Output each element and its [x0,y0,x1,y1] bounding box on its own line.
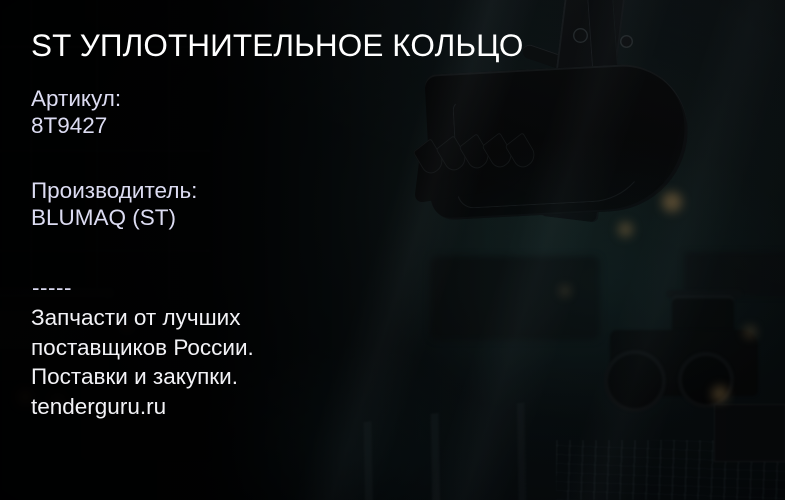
bokeh-light-4 [744,326,756,338]
loader-wheel-front [604,350,666,412]
article-value: 8T9427 [31,112,121,139]
background-vehicle-far [684,252,785,296]
loader-body [610,330,758,396]
article-label: Артикул: [31,85,121,112]
pallet-stack [556,440,785,500]
banner-text-block: ST УПЛОТНИТЕЛЬНОЕ КОЛЬЦО Артикул: 8T9427… [31,0,571,500]
manufacturer-value: BLUMAQ (ST) [31,204,197,231]
excavator-pin-d [609,130,621,142]
loader-wheel-rear [678,352,734,408]
bokeh-light-1 [662,192,682,212]
crate [714,404,785,462]
footer-line-2: поставщиков России. [31,333,254,363]
bokeh-light-5 [18,390,32,404]
manufacturer-label: Производитель: [31,177,197,204]
footer-line-3: Поставки и закупки. [31,362,254,392]
excavator-pin-c [604,86,618,100]
bokeh-light-3 [712,386,728,402]
loader-roof [666,290,742,298]
manufacturer-field: Производитель: BLUMAQ (ST) [31,177,197,231]
footer-line-1: Запчасти от лучших [31,303,254,333]
footer-text: Запчасти от лучших поставщиков России. П… [31,303,254,421]
product-title: ST УПЛОТНИТЕЛЬНОЕ КОЛЬЦО [31,27,524,63]
excavator-pin-b [620,35,633,48]
product-banner: ST УПЛОТНИТЕЛЬНОЕ КОЛЬЦО Артикул: 8T9427… [0,0,785,500]
site-url: tenderguru.ru [31,392,254,422]
loader-cab [672,296,734,336]
excavator-link-arm [587,0,628,201]
excavator-pin-a [573,28,588,43]
divider-dashes: ----- [32,277,72,299]
article-field: Артикул: 8T9427 [31,85,121,139]
bokeh-light-2 [618,222,633,237]
